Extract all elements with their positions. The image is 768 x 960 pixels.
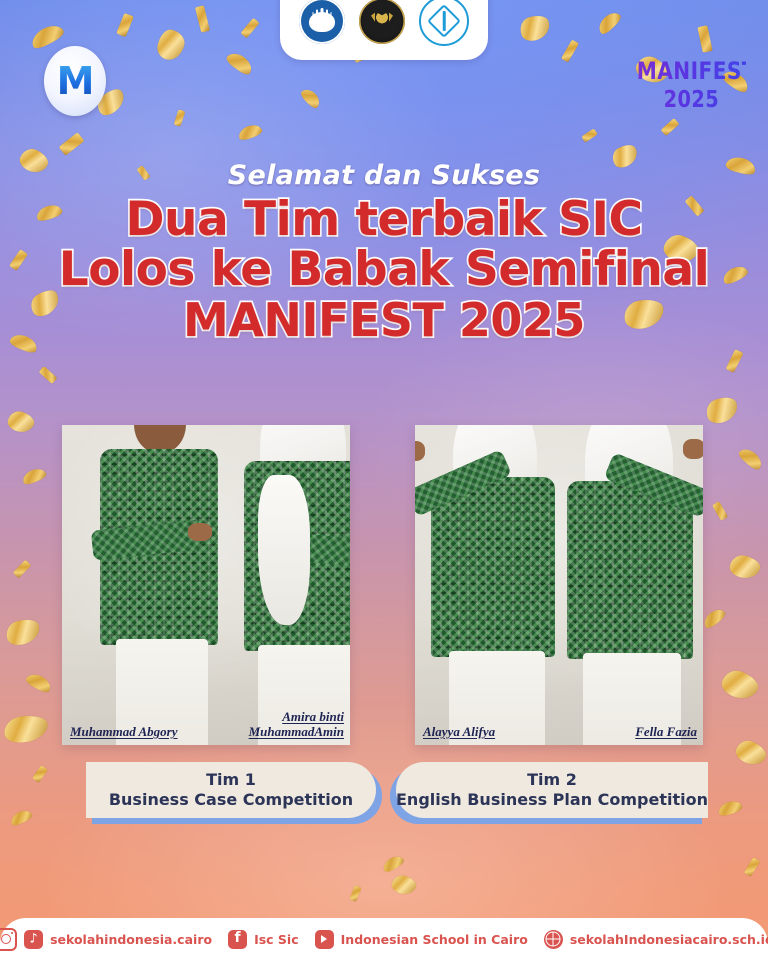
team-2-banner: Tim 2 English Business Plan Competition xyxy=(396,762,708,818)
institution-logos-card xyxy=(280,0,488,60)
team-1-banner-card: Tim 1 Business Case Competition xyxy=(86,762,376,818)
manifest-corner-name: MANIFEST xyxy=(637,56,746,86)
team-1-member-1-name: Muhammad Abgory xyxy=(70,725,178,740)
team-2-member-2-name: Fella Fazia xyxy=(635,725,697,740)
globe-icon[interactable] xyxy=(544,930,563,949)
team-1-photo-card: Muhammad Abgory Amira binti MuhammadAmin xyxy=(62,425,350,745)
manifest-corner-title: MANIFEST 2025 xyxy=(637,56,746,115)
headline-block: Selamat dan Sukses Dua Tim terbaik SIC L… xyxy=(0,160,768,345)
team-1-banner: Tim 1 Business Case Competition xyxy=(86,762,376,818)
team-2-banner-card: Tim 2 English Business Plan Competition xyxy=(396,762,708,818)
team-2-competition: English Business Plan Competition xyxy=(396,790,708,811)
social-item-facebook[interactable]: Isc Sic xyxy=(228,930,299,949)
headline-line-1: Dua Tim terbaik SIC xyxy=(0,195,768,245)
embassy-republic-of-indonesia-emblem xyxy=(359,0,405,44)
facebook-icon[interactable] xyxy=(228,930,247,949)
manifest-m-logo: M xyxy=(44,46,106,116)
headline-line-3: MANIFEST 2025 xyxy=(0,296,768,345)
social-item-website[interactable]: sekolahIndonesiacairo.sch.id xyxy=(544,930,768,949)
team-2-number: Tim 2 xyxy=(527,769,577,791)
team-2-member-1-name: Alayya Alifya xyxy=(423,725,495,740)
social-footer-bar: sekolahindonesia.cairo Isc Sic Indonesia… xyxy=(0,918,768,960)
team-1-member-2-name: Amira binti MuhammadAmin xyxy=(249,710,344,740)
manifest-m-letter: M xyxy=(57,62,94,100)
team-1-photo xyxy=(62,425,350,745)
social-handle-instagram-tiktok: sekolahindonesia.cairo xyxy=(50,932,212,947)
headline-line-2: Lolos ke Babak Semifinal xyxy=(0,245,768,295)
poster-canvas: M MANIFEST 2025 Selamat dan Sukses Dua T… xyxy=(0,0,768,960)
manifest-corner-year: 2025 xyxy=(637,86,746,115)
team-1-number: Tim 1 xyxy=(206,769,256,791)
team-1-competition: Business Case Competition xyxy=(109,790,353,811)
social-item-instagram-tiktok[interactable]: sekolahindonesia.cairo xyxy=(0,928,212,951)
social-handle-website: sekolahIndonesiacairo.sch.id xyxy=(570,932,768,947)
headline-kicker: Selamat dan Sukses xyxy=(0,160,768,191)
team-2-photo xyxy=(415,425,703,745)
tut-wuri-handayani-emblem xyxy=(299,0,345,44)
team-2-photo-card: Alayya Alifya Fella Fazia xyxy=(415,425,703,745)
social-item-youtube[interactable]: Indonesian School in Cairo xyxy=(315,930,528,949)
tiktok-icon[interactable] xyxy=(24,930,43,949)
social-handle-facebook: Isc Sic xyxy=(254,932,299,947)
sic-school-emblem xyxy=(419,0,469,46)
youtube-icon[interactable] xyxy=(315,930,334,949)
instagram-icon[interactable] xyxy=(0,928,17,951)
social-handle-youtube: Indonesian School in Cairo xyxy=(341,932,528,947)
